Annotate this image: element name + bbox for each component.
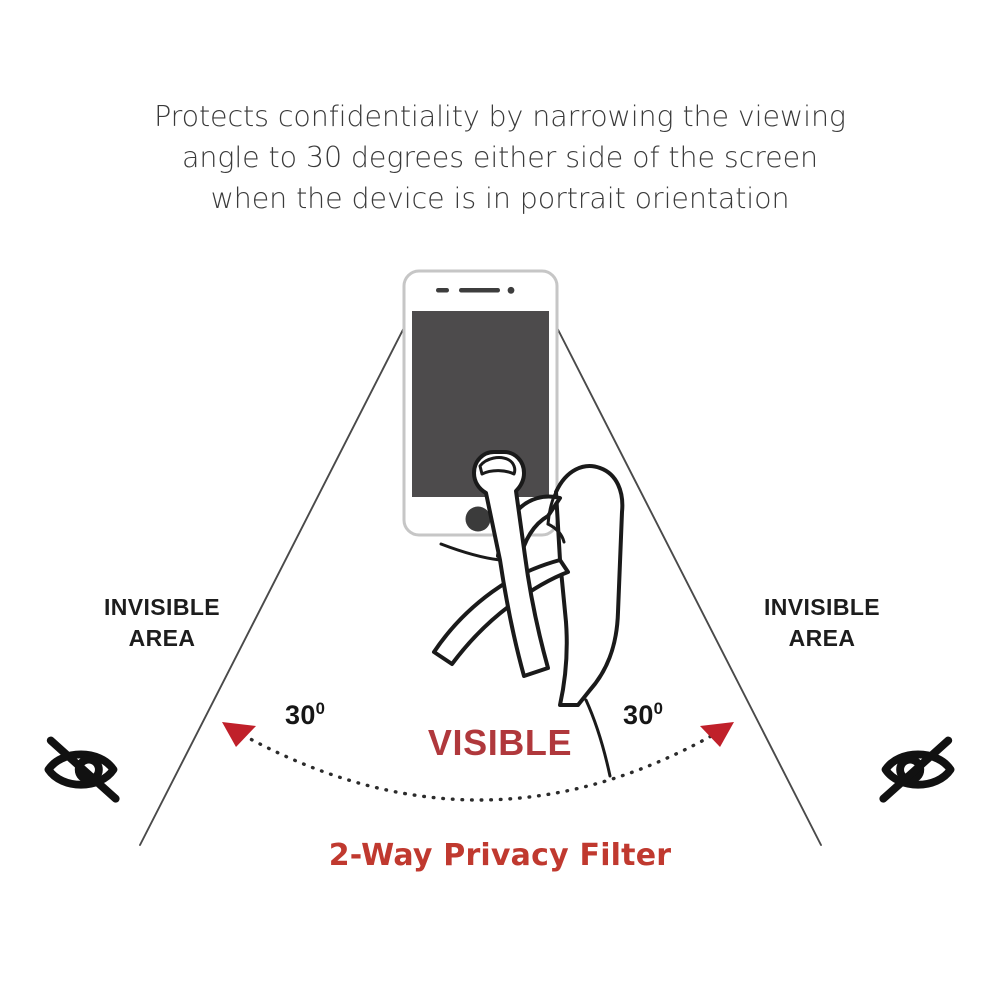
invisible-right-line-2: AREA xyxy=(707,623,937,654)
product-caption: 2-Way Privacy Filter xyxy=(250,838,750,873)
invisible-area-label-right: INVISIBLE AREA xyxy=(707,592,937,654)
smartphone-in-hand xyxy=(404,271,622,776)
phone-home-button xyxy=(466,507,491,532)
phone-speaker-slot xyxy=(459,288,500,293)
smartphone-device xyxy=(404,271,557,535)
angle-right-superscript: 0 xyxy=(654,699,664,718)
arrow-right-icon xyxy=(700,722,734,747)
invisible-left-line-2: AREA xyxy=(47,623,277,654)
eye-off-icon-right-group xyxy=(883,740,950,798)
phone-front-camera xyxy=(508,287,515,294)
cone-line-left xyxy=(140,312,412,845)
hand-thumbnail xyxy=(480,458,515,474)
arrow-left-icon xyxy=(222,722,256,747)
visible-area-label: VISIBLE xyxy=(360,722,640,764)
angle-left-superscript: 0 xyxy=(316,699,326,718)
invisible-area-label-left: INVISIBLE AREA xyxy=(47,592,277,654)
angle-label-left: 300 xyxy=(285,700,325,731)
invisible-right-line-1: INVISIBLE xyxy=(707,592,937,623)
eye-off-icon-left-group xyxy=(48,740,115,798)
hand-palm xyxy=(556,466,622,705)
hand-crease-3 xyxy=(441,544,500,560)
angle-left-value: 30 xyxy=(285,700,316,730)
phone-sensor xyxy=(436,288,449,293)
diagram-canvas: Protects confidentiality by narrowing th… xyxy=(0,0,1000,1000)
invisible-left-line-1: INVISIBLE xyxy=(47,592,277,623)
